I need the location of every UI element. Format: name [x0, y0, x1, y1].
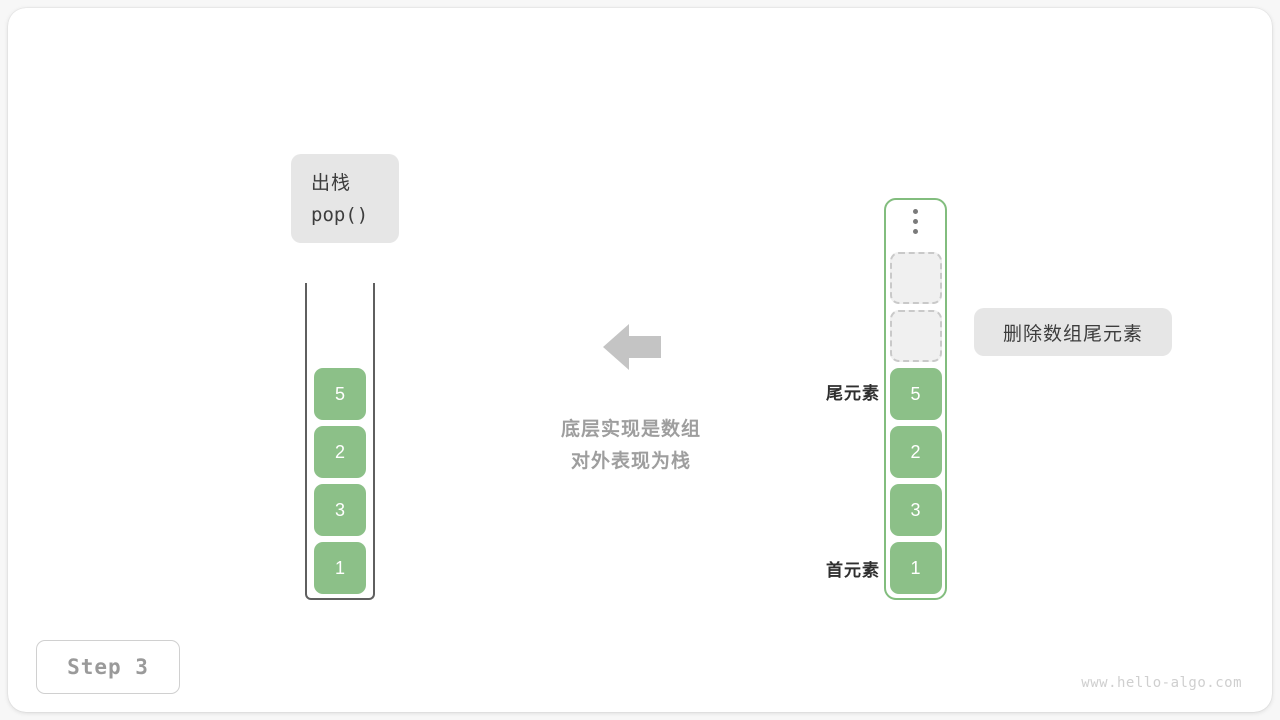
stack-cell: 5	[314, 368, 366, 420]
step-badge: Step 3	[36, 640, 180, 694]
array-cell-empty	[890, 252, 942, 304]
array-cell-empty	[890, 310, 942, 362]
array-container: 5 2 3 1	[884, 198, 947, 600]
array-cell: 1	[890, 542, 942, 594]
stack-cell: 1	[314, 542, 366, 594]
stack-cell: 3	[314, 484, 366, 536]
pop-callout: 出栈 pop()	[291, 154, 399, 243]
watermark: www.hello-algo.com	[1081, 675, 1242, 691]
arrow-left-icon	[601, 316, 663, 378]
array-head-label: 首元素	[770, 556, 880, 581]
ellipsis-dot	[913, 209, 918, 214]
array-cell: 3	[890, 484, 942, 536]
array-cell: 5	[890, 368, 942, 420]
array-tail-label: 尾元素	[770, 379, 880, 404]
center-note: 底层实现是数组 对外表现为栈	[500, 414, 762, 478]
stack-cell: 2	[314, 426, 366, 478]
stack-container: 5 2 3 1	[305, 283, 375, 600]
stack-cell-list: 5 2 3 1	[307, 368, 373, 594]
ellipsis-dot	[913, 229, 918, 234]
diagram-canvas: 出栈 pop() 5 2 3 1 底层实现是数组 对外表现为栈 尾元素 首元素 …	[0, 0, 1280, 720]
pop-callout-line1: 出栈	[311, 168, 351, 200]
vertical-ellipsis-icon	[913, 198, 918, 244]
delete-tail-callout: 删除数组尾元素	[974, 308, 1172, 356]
ellipsis-dot	[913, 219, 918, 224]
array-cell: 2	[890, 426, 942, 478]
center-note-line1: 底层实现是数组	[500, 414, 762, 446]
pop-callout-line2: pop()	[311, 200, 368, 230]
center-note-line2: 对外表现为栈	[500, 446, 762, 478]
